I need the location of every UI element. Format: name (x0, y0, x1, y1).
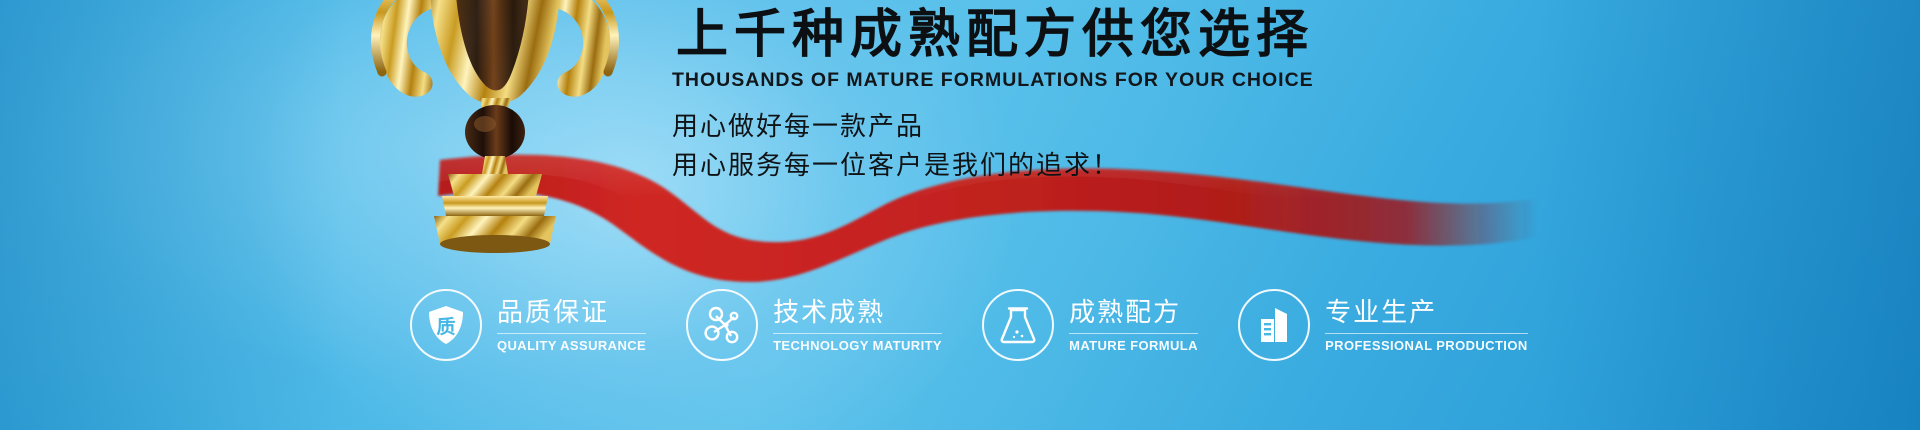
page-title: 上千种成熟配方供您选择 (676, 6, 1314, 64)
feature-label-en: TECHNOLOGY MATURITY (773, 338, 942, 353)
tagline-line-1: 用心做好每一款产品 (672, 108, 1120, 147)
divider (497, 333, 646, 334)
divider (773, 333, 942, 334)
page-subtitle: THOUSANDS OF MATURE FORMULATIONS FOR YOU… (672, 68, 1314, 92)
gold-trophy-icon (330, 0, 660, 272)
feature-label-cn: 成熟配方 (1069, 298, 1198, 328)
feature-list: 质 品质保证 QUALITY ASSURANCE (410, 282, 1640, 368)
feature-item-professional-production[interactable]: 专业生产 PROFESSIONAL PRODUCTION (1238, 289, 1528, 361)
factory-building-icon (1238, 289, 1310, 361)
feature-label-en: QUALITY ASSURANCE (497, 338, 646, 353)
divider (1069, 333, 1198, 334)
feature-item-mature-formula[interactable]: 成熟配方 MATURE FORMULA (982, 289, 1198, 361)
divider (1325, 333, 1528, 334)
feature-label-cn: 品质保证 (497, 298, 646, 328)
feature-label-en: MATURE FORMULA (1069, 338, 1198, 353)
feature-label-cn: 专业生产 (1325, 298, 1528, 328)
feature-label-cn: 技术成熟 (773, 298, 942, 328)
feature-item-technology-maturity[interactable]: 技术成熟 TECHNOLOGY MATURITY (686, 289, 942, 361)
shield-glyph: 质 (436, 316, 455, 338)
flask-icon (982, 289, 1054, 361)
tagline-line-2: 用心服务每一位客户是我们的追求！ (672, 147, 1120, 186)
shield-quality-icon: 质 (410, 289, 482, 361)
promo-banner: 上千种成熟配方供您选择 THOUSANDS OF MATURE FORMULAT… (0, 0, 1920, 430)
tagline-block: 用心做好每一款产品 用心服务每一位客户是我们的追求！ (672, 108, 1120, 186)
molecule-icon (686, 289, 758, 361)
feature-item-quality-assurance[interactable]: 质 品质保证 QUALITY ASSURANCE (410, 289, 646, 361)
feature-label-en: PROFESSIONAL PRODUCTION (1325, 338, 1528, 353)
